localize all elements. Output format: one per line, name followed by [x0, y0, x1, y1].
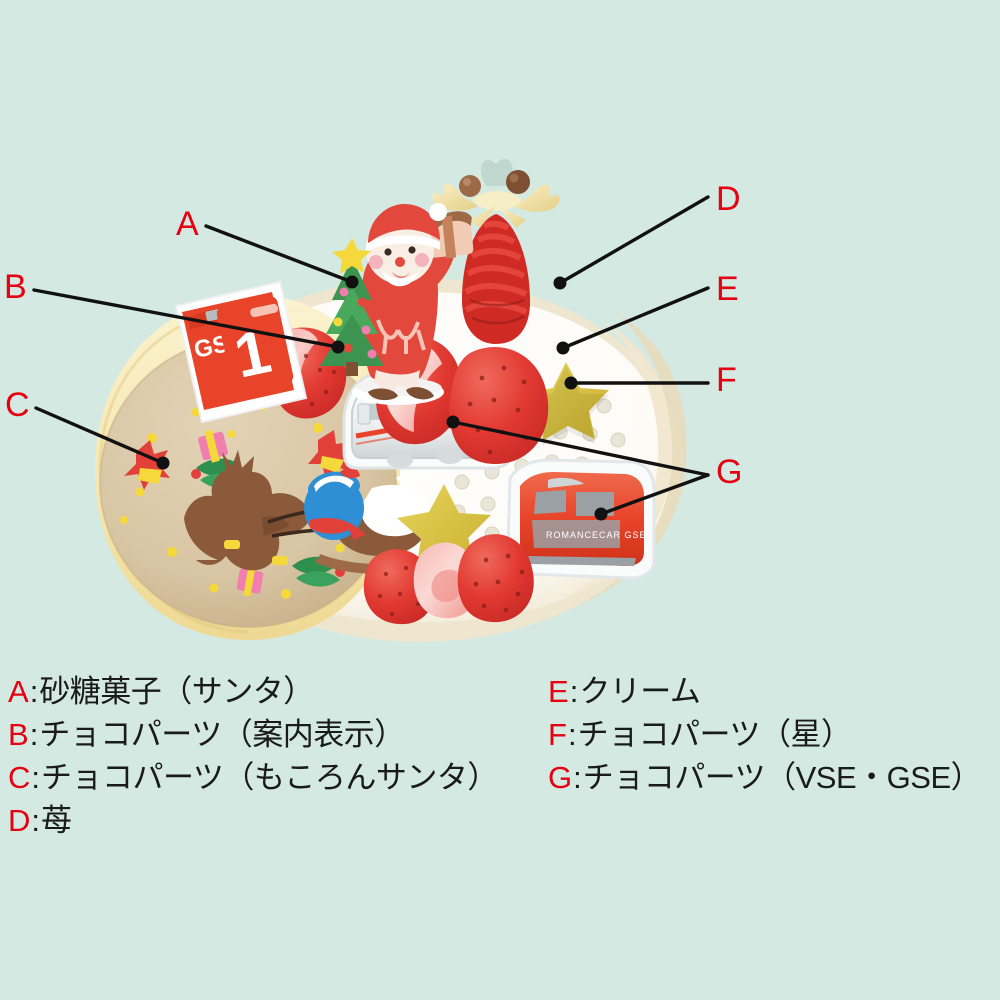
legend-separator: : — [29, 674, 40, 710]
leader-dot-g — [595, 508, 607, 520]
legend-row: C:チョコパーツ（もころんサンタ） — [8, 752, 548, 795]
legend-row: D:苺 — [8, 795, 548, 838]
diagram-canvas: ROMANCECAR GSE — [0, 0, 1000, 1000]
legend-row: A:砂糖菓子（サンタ） — [8, 666, 548, 709]
legend: A:砂糖菓子（サンタ）B:チョコパーツ（案内表示）C:チョコパーツ（もころんサン… — [0, 666, 1000, 876]
legend-key-b: B — [8, 717, 29, 753]
leader-dot-g — [447, 416, 459, 428]
callout-label-a: A — [176, 207, 199, 241]
leader-line-e — [563, 288, 708, 348]
leader-dot-a — [346, 276, 358, 288]
legend-text-e: クリーム — [579, 666, 700, 711]
legend-text-g: チョコパーツ（VSE・GSE） — [583, 752, 981, 797]
choco-train-gse: ROMANCECAR GSE — [508, 460, 654, 578]
legend-key-d: D — [8, 803, 30, 839]
gse-livery-text: ROMANCECAR GSE — [546, 530, 647, 540]
legend-text-d: 苺 — [41, 795, 72, 840]
callout-label-c: C — [5, 388, 30, 422]
legend-text-f: チョコパーツ（星） — [578, 709, 852, 754]
legend-row: E:クリーム — [548, 666, 1000, 709]
legend-key-c: C — [8, 760, 30, 796]
legend-separator: : — [30, 760, 41, 796]
legend-text-c: チョコパーツ（もころんサンタ） — [41, 752, 498, 797]
legend-separator: : — [29, 717, 40, 753]
cake-artwork: ROMANCECAR GSE — [0, 0, 1000, 660]
callout-label-e: E — [716, 272, 739, 306]
callout-label-d: D — [716, 182, 741, 216]
legend-row: G:チョコパーツ（VSE・GSE） — [548, 752, 1000, 795]
legend-separator: : — [572, 760, 583, 796]
legend-text-a: 砂糖菓子（サンタ） — [39, 666, 314, 711]
callout-label-g: G — [716, 455, 742, 489]
cake-illustration: ROMANCECAR GSE — [0, 0, 1000, 660]
legend-row: F:チョコパーツ（星） — [548, 709, 1000, 752]
leader-line-d — [560, 197, 708, 283]
legend-text-b: チョコパーツ（案内表示） — [39, 709, 404, 754]
legend-separator: : — [569, 674, 580, 710]
legend-key-g: G — [548, 760, 572, 796]
legend-column-right: E:クリームF:チョコパーツ（星）G:チョコパーツ（VSE・GSE） — [548, 666, 1000, 795]
legend-key-a: A — [8, 674, 29, 710]
strawberry-tower — [462, 214, 530, 344]
callout-label-f: F — [716, 363, 737, 397]
leader-dot-e — [557, 342, 569, 354]
leader-dot-d — [554, 277, 566, 289]
legend-column-left: A:砂糖菓子（サンタ）B:チョコパーツ（案内表示）C:チョコパーツ（もころんサン… — [8, 666, 548, 838]
legend-row: B:チョコパーツ（案内表示） — [8, 709, 548, 752]
leader-dot-c — [157, 457, 169, 469]
legend-separator: : — [30, 803, 41, 839]
legend-separator: : — [567, 717, 578, 753]
callout-label-b: B — [4, 270, 27, 304]
legend-key-f: F — [548, 717, 567, 753]
leader-line-a — [206, 226, 352, 282]
leader-dot-b — [332, 341, 344, 353]
leader-dot-f — [565, 377, 577, 389]
legend-key-e: E — [548, 674, 569, 710]
